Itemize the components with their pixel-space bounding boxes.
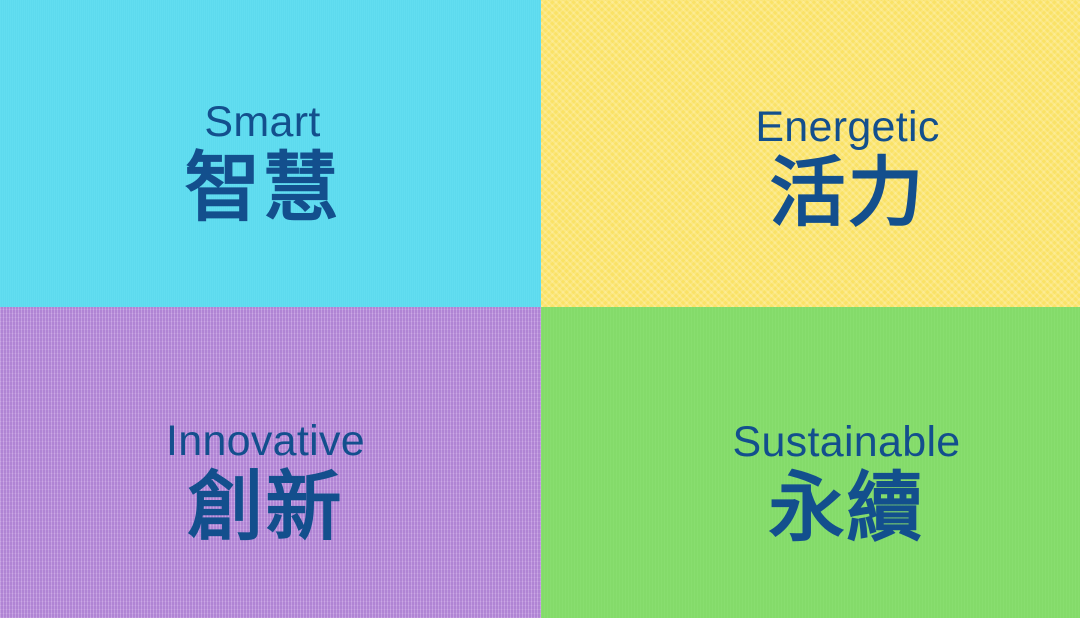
quadrant-smart[interactable]: Smart 智慧 (0, 0, 541, 307)
english-label-smart: Smart (204, 101, 320, 144)
chinese-label-innovative: 創新 (188, 469, 344, 545)
values-grid: Smart 智慧 Energetic 活力 Innovative 創新 Sust… (0, 0, 1080, 618)
english-label-innovative: Innovative (166, 420, 365, 463)
english-label-sustainable: Sustainable (732, 421, 960, 464)
label-block-innovative: Innovative 創新 (166, 420, 365, 545)
label-block-smart: Smart 智慧 (185, 101, 341, 226)
chinese-label-smart: 智慧 (185, 150, 341, 226)
quadrant-energetic[interactable]: Energetic 活力 (541, 0, 1080, 307)
quadrant-innovative[interactable]: Innovative 創新 (0, 307, 541, 618)
label-block-sustainable: Sustainable 永續 (732, 421, 960, 546)
label-block-energetic: Energetic 活力 (755, 106, 939, 231)
quadrant-sustainable[interactable]: Sustainable 永續 (541, 307, 1080, 618)
english-label-energetic: Energetic (755, 106, 939, 149)
chinese-label-sustainable: 永續 (769, 470, 925, 546)
chinese-label-energetic: 活力 (769, 155, 925, 231)
